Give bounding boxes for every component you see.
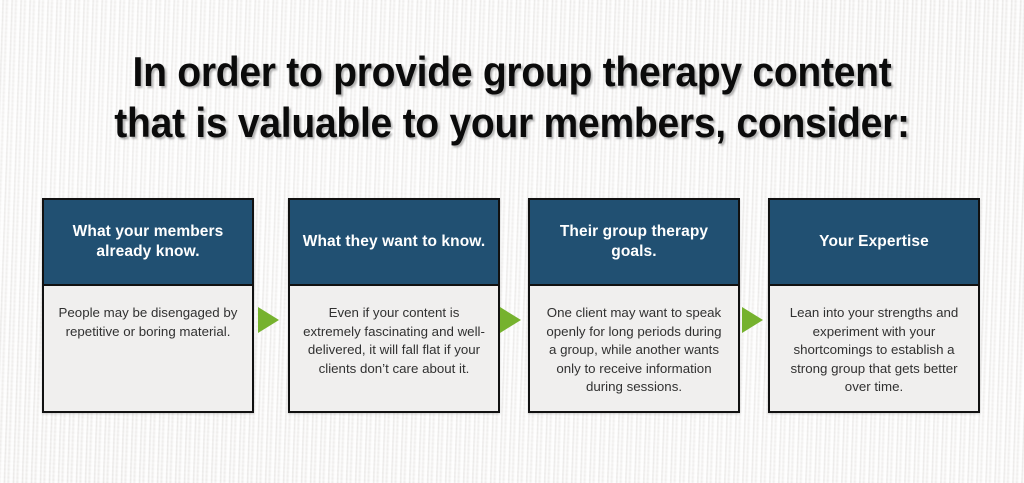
arrow-right-triangle-icon bbox=[498, 305, 522, 335]
consideration-card-3-header-text: Their group therapy goals. bbox=[540, 222, 728, 262]
consideration-card-2-header: What they want to know. bbox=[290, 200, 498, 286]
arrow-right-triangle-icon bbox=[256, 305, 280, 335]
page-title-line-1: In order to provide group therapy conten… bbox=[36, 46, 988, 97]
consideration-card-3-body-text: One client may want to speak openly for … bbox=[541, 304, 727, 397]
consideration-card-3-body: One client may want to speak openly for … bbox=[530, 286, 738, 411]
consideration-card-4-header-text: Your Expertise bbox=[819, 232, 929, 252]
consideration-card-1-body-text: People may be disengaged by repetitive o… bbox=[55, 304, 241, 341]
consideration-card-4[interactable]: Your Expertise Lean into your strengths … bbox=[768, 198, 980, 413]
consideration-card-2-header-text: What they want to know. bbox=[303, 232, 486, 252]
consideration-card-2-body-text: Even if your content is extremely fascin… bbox=[301, 304, 487, 378]
consideration-card-4-body-text: Lean into your strengths and experiment … bbox=[781, 304, 967, 397]
page-title-line-2: that is valuable to your members, consid… bbox=[36, 97, 988, 148]
consideration-card-1-header: What your members already know. bbox=[44, 200, 252, 286]
consideration-card-3-header: Their group therapy goals. bbox=[530, 200, 738, 286]
consideration-card-2-body: Even if your content is extremely fascin… bbox=[290, 286, 498, 411]
page-title: In order to provide group therapy conten… bbox=[0, 46, 1024, 148]
consideration-card-3[interactable]: Their group therapy goals. One client ma… bbox=[528, 198, 740, 413]
infographic-page: In order to provide group therapy conten… bbox=[0, 0, 1024, 483]
consideration-card-4-header: Your Expertise bbox=[770, 200, 978, 286]
arrow-right-triangle-icon bbox=[740, 305, 764, 335]
consideration-card-1-header-text: What your members already know. bbox=[54, 222, 242, 262]
consideration-card-2[interactable]: What they want to know. Even if your con… bbox=[288, 198, 500, 413]
consideration-card-1[interactable]: What your members already know. People m… bbox=[42, 198, 254, 413]
consideration-card-1-body: People may be disengaged by repetitive o… bbox=[44, 286, 252, 411]
consideration-card-4-body: Lean into your strengths and experiment … bbox=[770, 286, 978, 411]
